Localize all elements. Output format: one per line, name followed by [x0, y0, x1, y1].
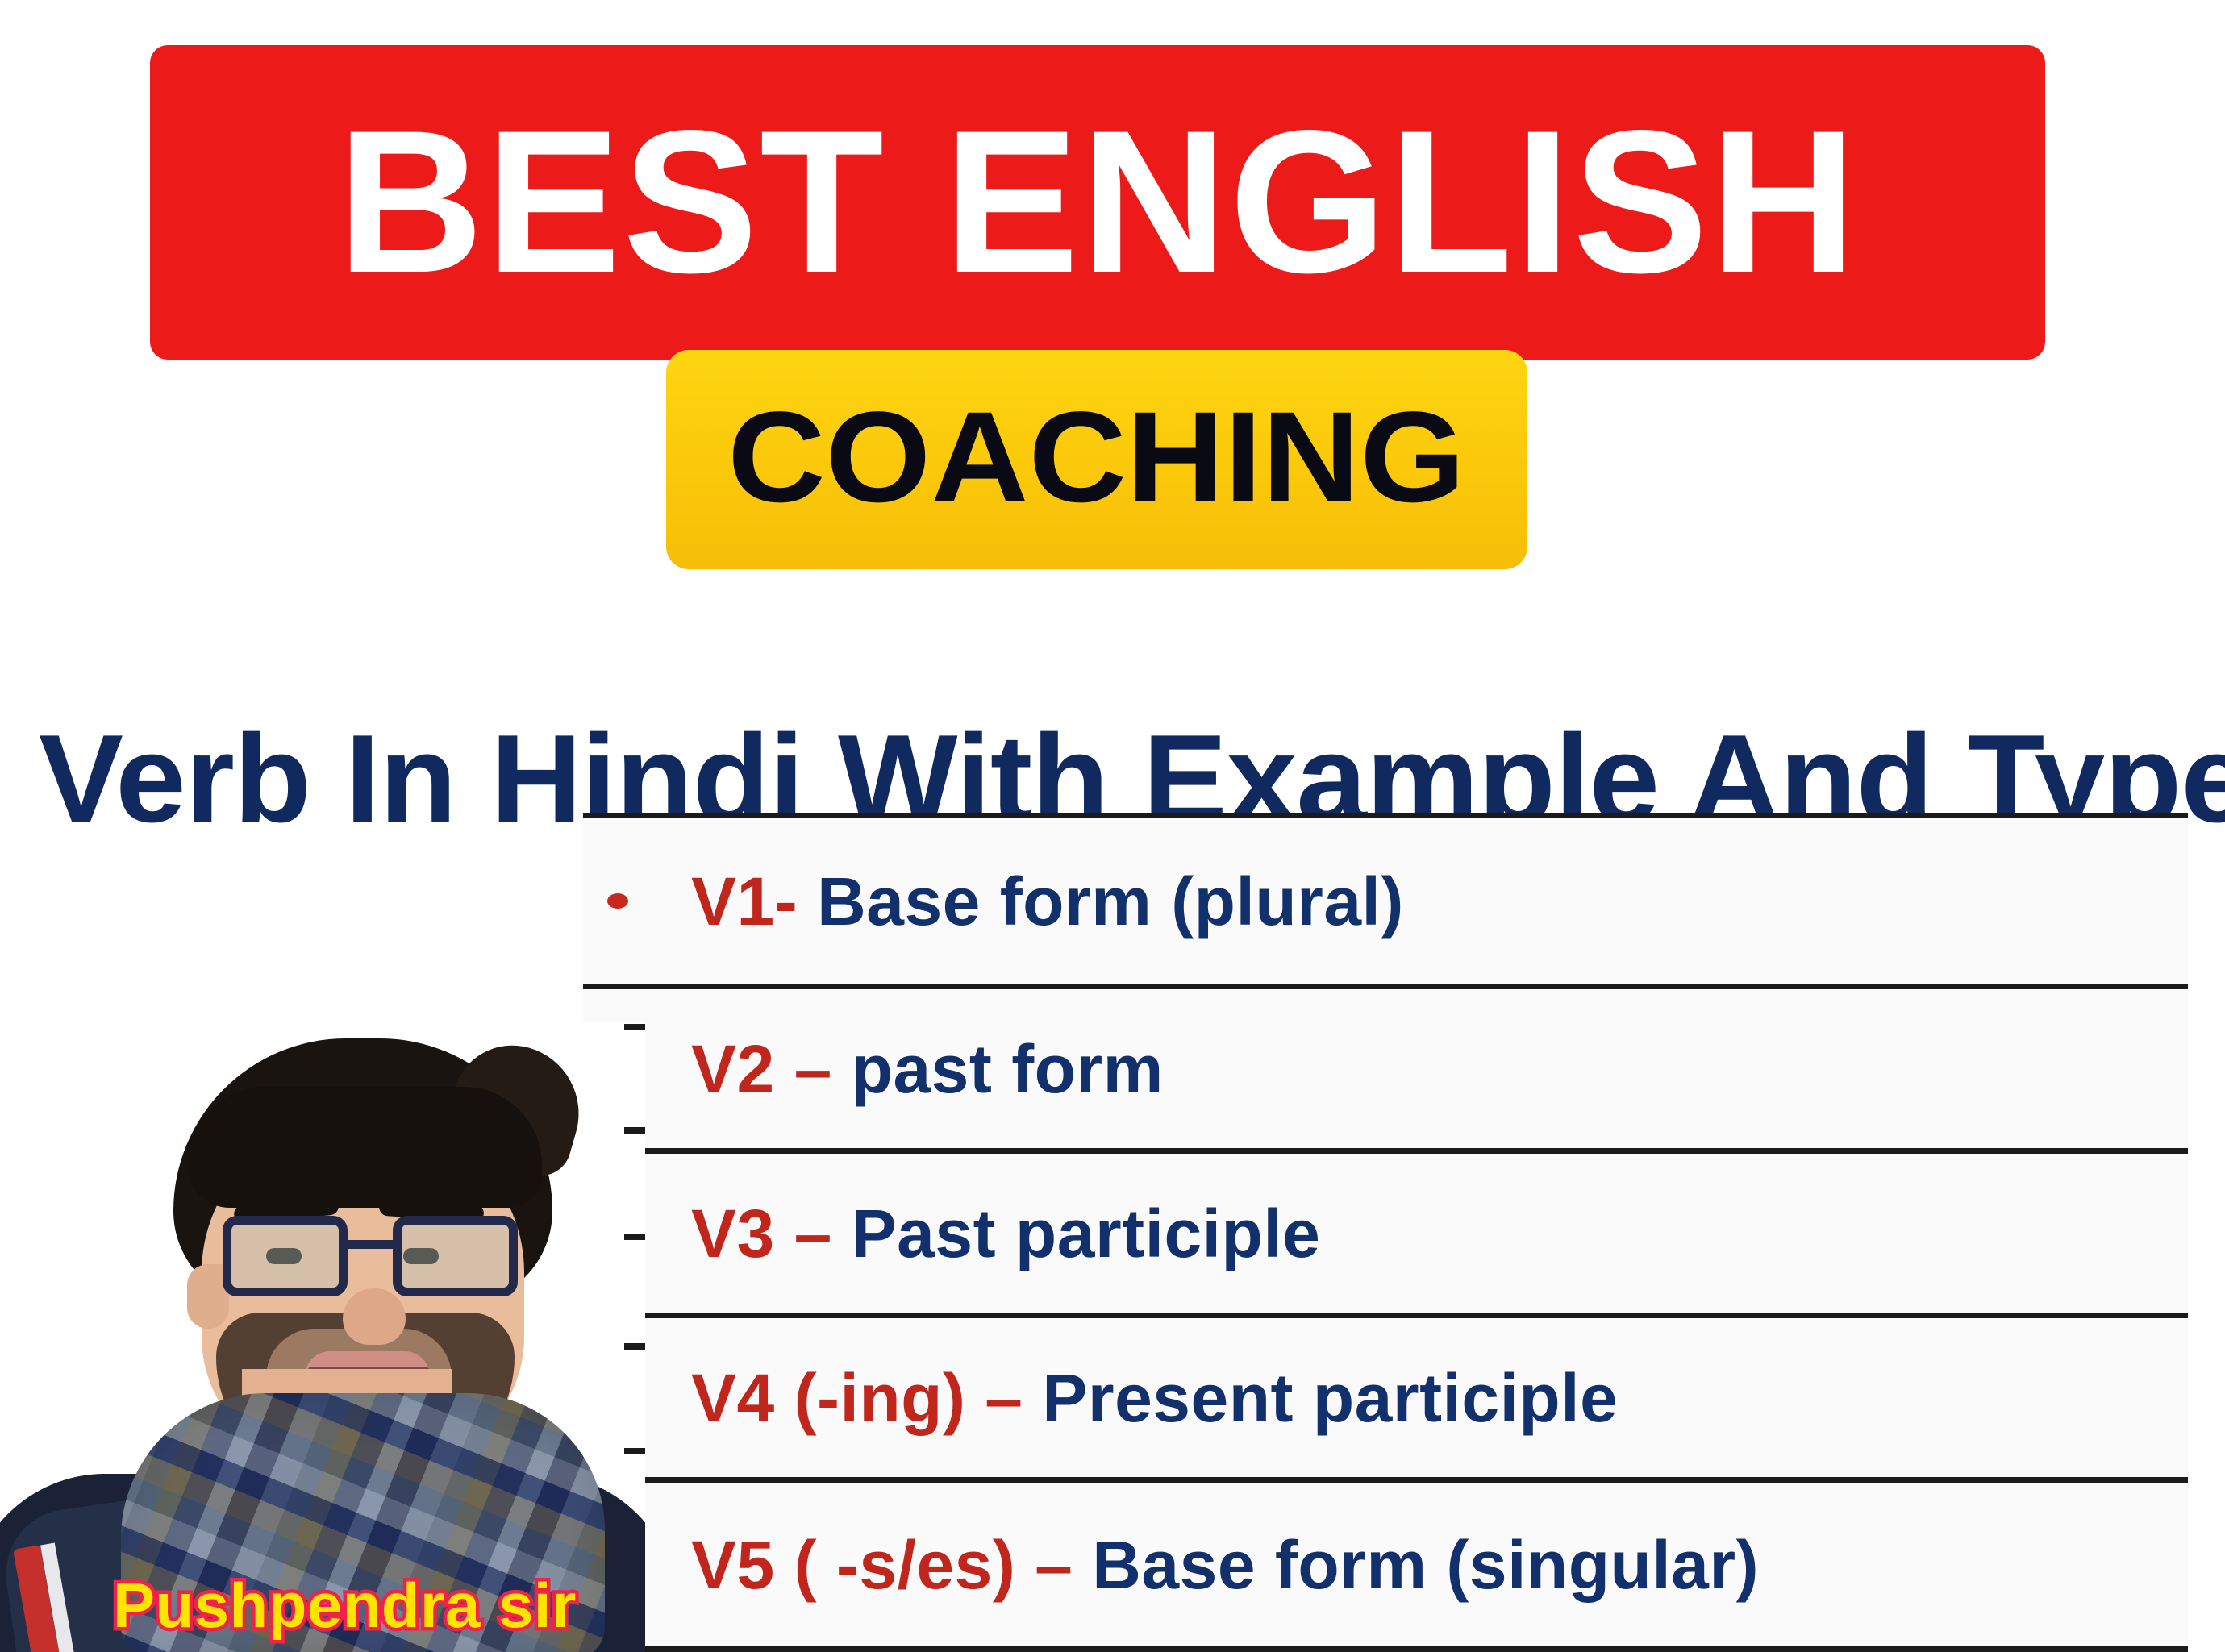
edge-tick	[624, 1448, 645, 1454]
verb-code: V1-	[691, 863, 798, 939]
brand-yellow-box-label: COACHING	[666, 393, 1527, 522]
brand-yellow-box-text: COACHING	[728, 393, 1466, 522]
brand-red-banner-text: BEST ENGLISH	[337, 89, 1858, 315]
table-row: V2 – past form	[583, 984, 2188, 1148]
edge-tick	[624, 1234, 645, 1240]
verb-row-text: V5 ( -s/es) – Base form (singular)	[691, 1531, 1759, 1599]
verb-row-text: V1- Base form (plural)	[691, 868, 1404, 935]
glasses-bridge	[348, 1240, 394, 1249]
table-row: V3 – Past participle	[583, 1148, 2188, 1313]
brand-yellow-box: COACHING	[666, 350, 1527, 569]
verb-row-text: V2 – past form	[691, 1035, 1164, 1103]
instructor-watermark: Pushpendra sir	[113, 1571, 577, 1640]
edge-tick	[624, 1024, 645, 1030]
photo-edge-ticks	[623, 1022, 645, 1652]
verb-forms-table: V1- Base form (plural) V2 – past form V3…	[583, 813, 2188, 1652]
instructor-photo	[0, 1022, 645, 1652]
brand-red-banner: BEST ENGLISH	[150, 45, 2045, 360]
brand-logo: BEST ENGLISH COACHING	[0, 0, 2225, 597]
lens-left	[223, 1216, 348, 1296]
eyeglasses-icon	[223, 1216, 518, 1306]
verb-code: V4 (-ing) –	[691, 1360, 1023, 1436]
verb-description: Past participle	[852, 1196, 1321, 1271]
brand-red-banner-label: BEST ENGLISH	[150, 101, 2045, 304]
verb-description: past form	[852, 1031, 1164, 1107]
verb-description: Base form (plural)	[817, 863, 1404, 939]
verb-code: V5 ( -s/es) –	[691, 1527, 1073, 1603]
table-row: V4 (-ing) – Present participle	[583, 1313, 2188, 1477]
verb-code: V3 –	[691, 1196, 832, 1271]
verb-code: V2 –	[691, 1031, 832, 1107]
table-row: V5 ( -s/es) – Base form (singular)	[583, 1477, 2188, 1646]
edge-tick	[624, 1343, 645, 1350]
verb-row-text: V4 (-ing) – Present participle	[691, 1364, 1618, 1432]
table-row: V1- Base form (plural)	[583, 813, 2188, 984]
table-bottom-rule	[583, 1646, 2188, 1652]
lens-right	[393, 1216, 518, 1296]
verb-description: Present participle	[1042, 1360, 1618, 1436]
hair-fringe-shape	[187, 1087, 542, 1208]
verb-row-text: V3 – Past participle	[691, 1200, 1320, 1267]
verb-description: Base form (singular)	[1092, 1527, 1759, 1603]
bullet-icon	[607, 893, 628, 909]
edge-tick	[624, 1127, 645, 1134]
